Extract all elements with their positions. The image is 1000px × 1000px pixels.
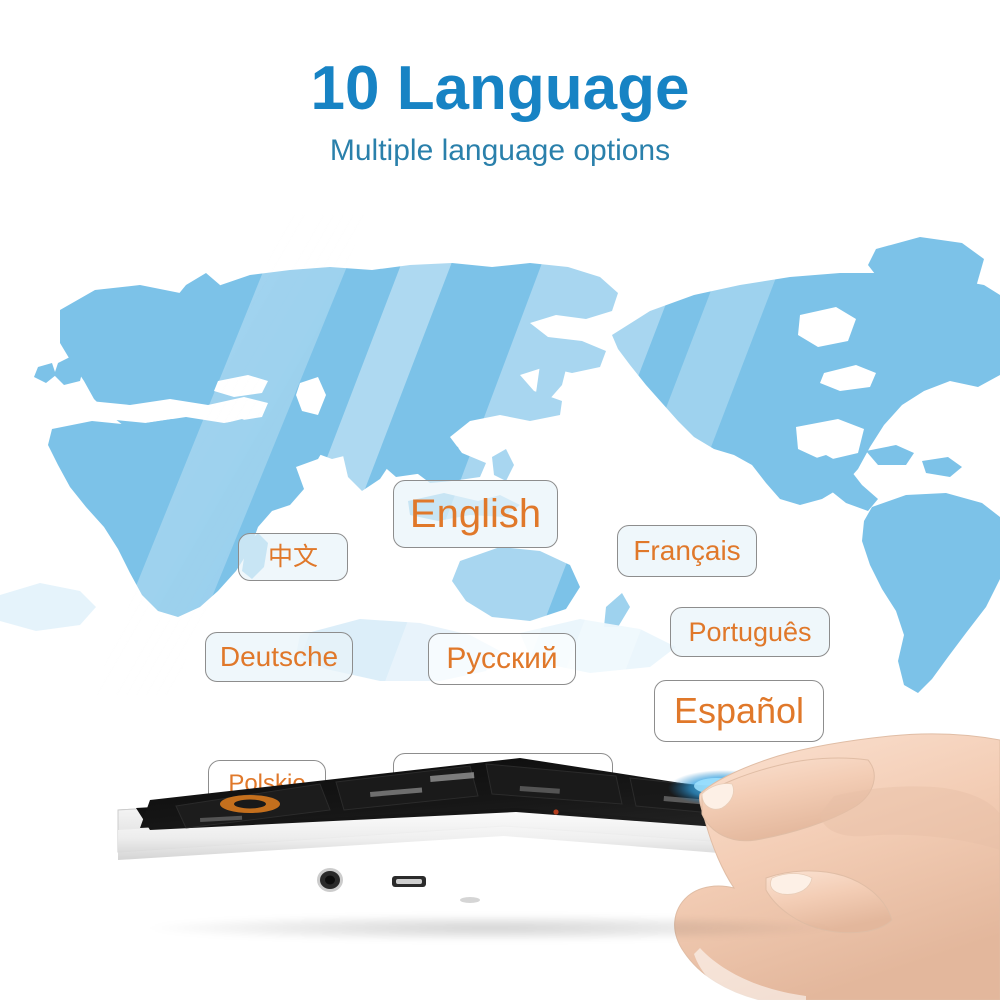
slide-canvas: 10 Language Multiple language options <box>0 0 1000 1000</box>
cuba <box>866 445 914 465</box>
tablet-and-hand-svg <box>0 700 1000 1000</box>
language-chip-label: Français <box>633 537 740 565</box>
map-landmasses <box>0 215 1000 695</box>
language-chip-french[interactable]: Français <box>617 525 757 577</box>
language-chip-label: 中文 <box>268 545 318 570</box>
language-chip-label: Deutsche <box>220 643 338 671</box>
device-illustration <box>0 700 1000 1000</box>
language-chip-label: Português <box>688 619 811 646</box>
ireland <box>34 363 56 383</box>
language-chip-portuguese[interactable]: Português <box>670 607 830 657</box>
language-chip-english[interactable]: English <box>393 480 558 548</box>
language-chip-russian[interactable]: Русский <box>428 633 576 685</box>
page-title: 10 Language <box>0 58 1000 120</box>
tablet-foot-left <box>460 897 480 903</box>
language-chip-label: English <box>410 494 541 534</box>
world-map-svg <box>0 215 1000 695</box>
ghost-landmass-left <box>0 583 96 631</box>
micro-usb-port-inner <box>396 879 422 884</box>
headphone-jack-hole <box>325 876 335 885</box>
page-subtitle: Multiple language options <box>0 136 1000 166</box>
language-chip-chinese[interactable]: 中文 <box>238 533 348 581</box>
screen-app-icon-orange-inner <box>234 800 266 809</box>
header: 10 Language Multiple language options <box>0 0 1000 166</box>
language-chip-german[interactable]: Deutsche <box>205 632 353 682</box>
world-map: English中文FrançaisPortuguêsDeutscheРусски… <box>0 215 1000 695</box>
screen-status-dot <box>553 809 558 814</box>
south-america-landmass <box>862 493 1000 693</box>
caribbean-islands <box>922 457 962 477</box>
language-chip-label: Русский <box>446 644 557 674</box>
device-shadow <box>150 915 830 941</box>
